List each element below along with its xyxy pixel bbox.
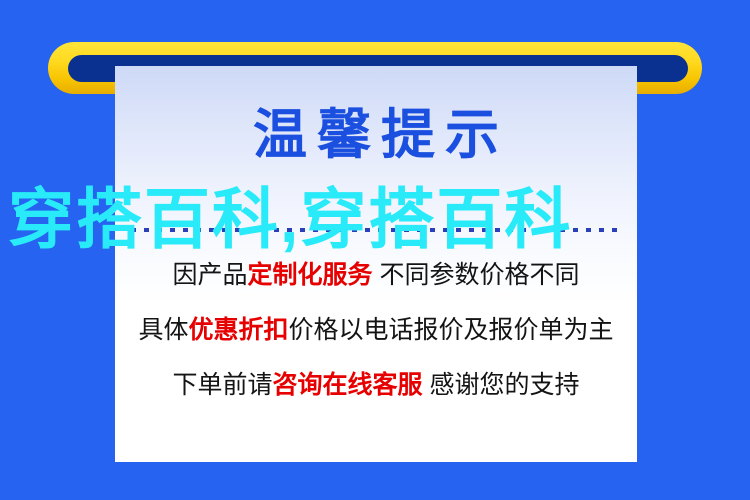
plain-text: 感谢您的支持 (423, 371, 580, 399)
plain-text: 价格以电话报价及报价单为主 (289, 316, 614, 344)
poster-canvas: 温馨提示 因产品定制化服务 不同参数价格不同 具体优惠折扣价格以电话报价及报价单… (0, 0, 750, 500)
plain-text: 不同参数价格不同 (373, 261, 580, 289)
notice-body: 因产品定制化服务 不同参数价格不同 具体优惠折扣价格以电话报价及报价单为主 下单… (115, 262, 637, 427)
notice-line: 下单前请咨询在线客服 感谢您的支持 (115, 372, 637, 398)
plain-text: 下单前请 (173, 371, 273, 399)
dotted-divider (131, 228, 621, 232)
notice-line: 因产品定制化服务 不同参数价格不同 (115, 262, 637, 288)
highlight-text: 优惠折扣 (188, 316, 288, 344)
plain-text: 因产品 (173, 261, 248, 289)
highlight-text: 咨询在线客服 (273, 371, 423, 399)
page-title: 温馨提示 (115, 108, 637, 162)
notice-card: 温馨提示 因产品定制化服务 不同参数价格不同 具体优惠折扣价格以电话报价及报价单… (115, 66, 637, 462)
notice-line: 具体优惠折扣价格以电话报价及报价单为主 (115, 317, 637, 343)
plain-text: 具体 (138, 316, 188, 344)
highlight-text: 定制化服务 (248, 261, 373, 289)
